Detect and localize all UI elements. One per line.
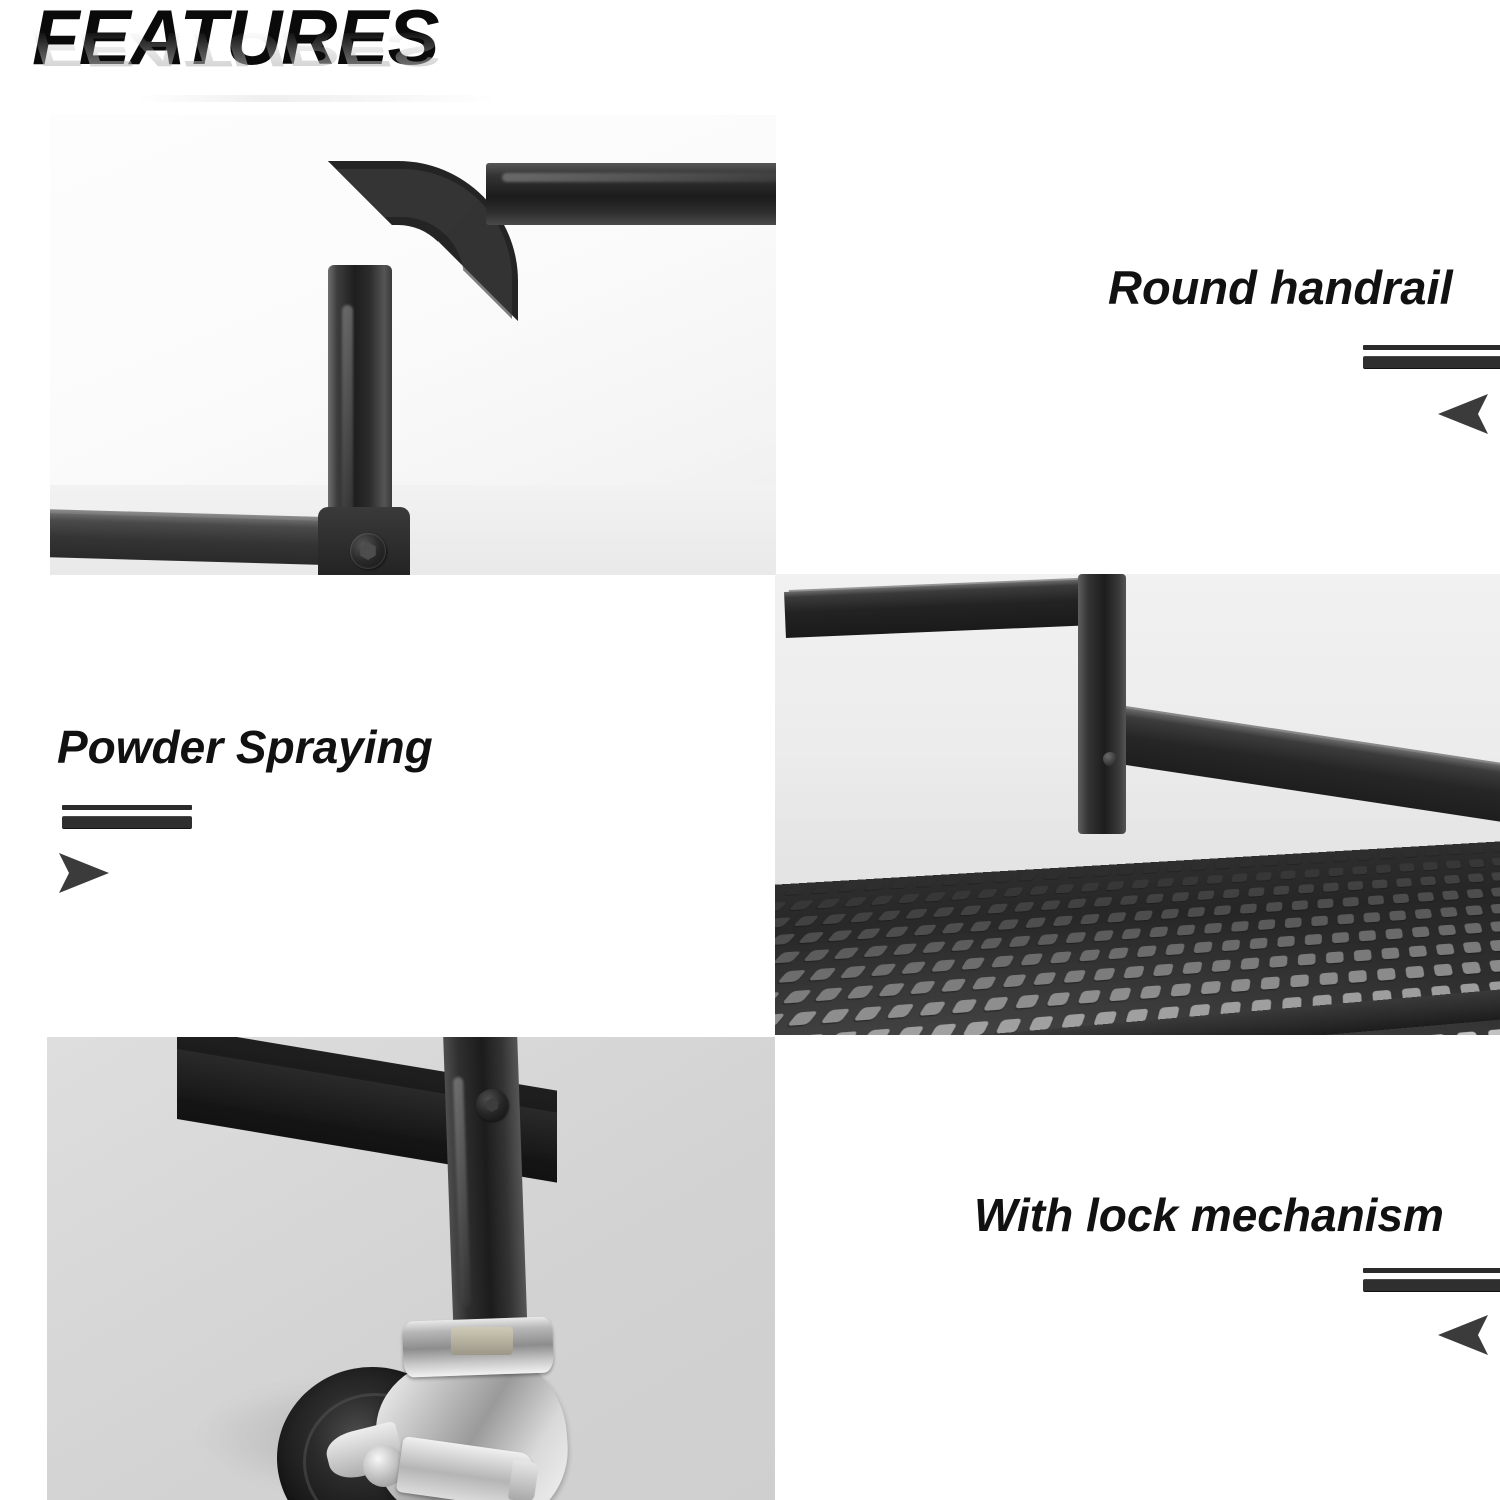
feature-rule-with-lock-mechanism xyxy=(1363,1268,1500,1292)
feature-rule-powder-spraying xyxy=(62,805,192,829)
feature-label-text: With lock mechanism xyxy=(974,1190,1444,1241)
feature-label-round-handrail: Round handrail xyxy=(1108,262,1453,314)
rule-thick xyxy=(1363,1279,1500,1292)
feature-label-with-lock-mechanism: With lock mechanism xyxy=(974,1190,1444,1241)
features-infographic: FEATURES FEATURES Round handrail xyxy=(0,0,1500,1500)
photo-panel-shelf xyxy=(775,574,1500,1035)
photo-panel-handrail xyxy=(50,115,776,575)
rule-thin xyxy=(1363,345,1500,350)
title-shine-divider xyxy=(138,95,498,102)
rule-thick xyxy=(62,816,192,829)
feature-rule-round-handrail xyxy=(1363,345,1500,369)
arrow-left-icon xyxy=(1436,392,1494,436)
arrow-right-icon xyxy=(55,851,113,895)
page-title-reflection: FEATURES xyxy=(32,26,439,74)
feature-label-text: Round handrail xyxy=(1108,262,1453,314)
hex-screw-icon xyxy=(476,1089,508,1121)
rule-thin xyxy=(62,805,192,810)
feature-label-powder-spraying: Powder Spraying xyxy=(57,722,433,773)
shelf-rail-screw-icon xyxy=(1103,752,1117,766)
shelf-corner-post xyxy=(1078,574,1126,834)
rule-thick xyxy=(1363,356,1500,369)
page-title-block: FEATURES FEATURES xyxy=(18,0,638,116)
caster-stem-nut xyxy=(451,1327,513,1355)
feature-label-text: Powder Spraying xyxy=(57,722,433,773)
rule-thin xyxy=(1363,1268,1500,1273)
shelf-side-rail xyxy=(1091,704,1500,822)
hex-screw-icon xyxy=(350,533,386,569)
photo-panel-caster xyxy=(47,1037,775,1500)
arrow-left-icon xyxy=(1436,1313,1494,1357)
handrail-horizontal-highlight xyxy=(502,173,776,182)
